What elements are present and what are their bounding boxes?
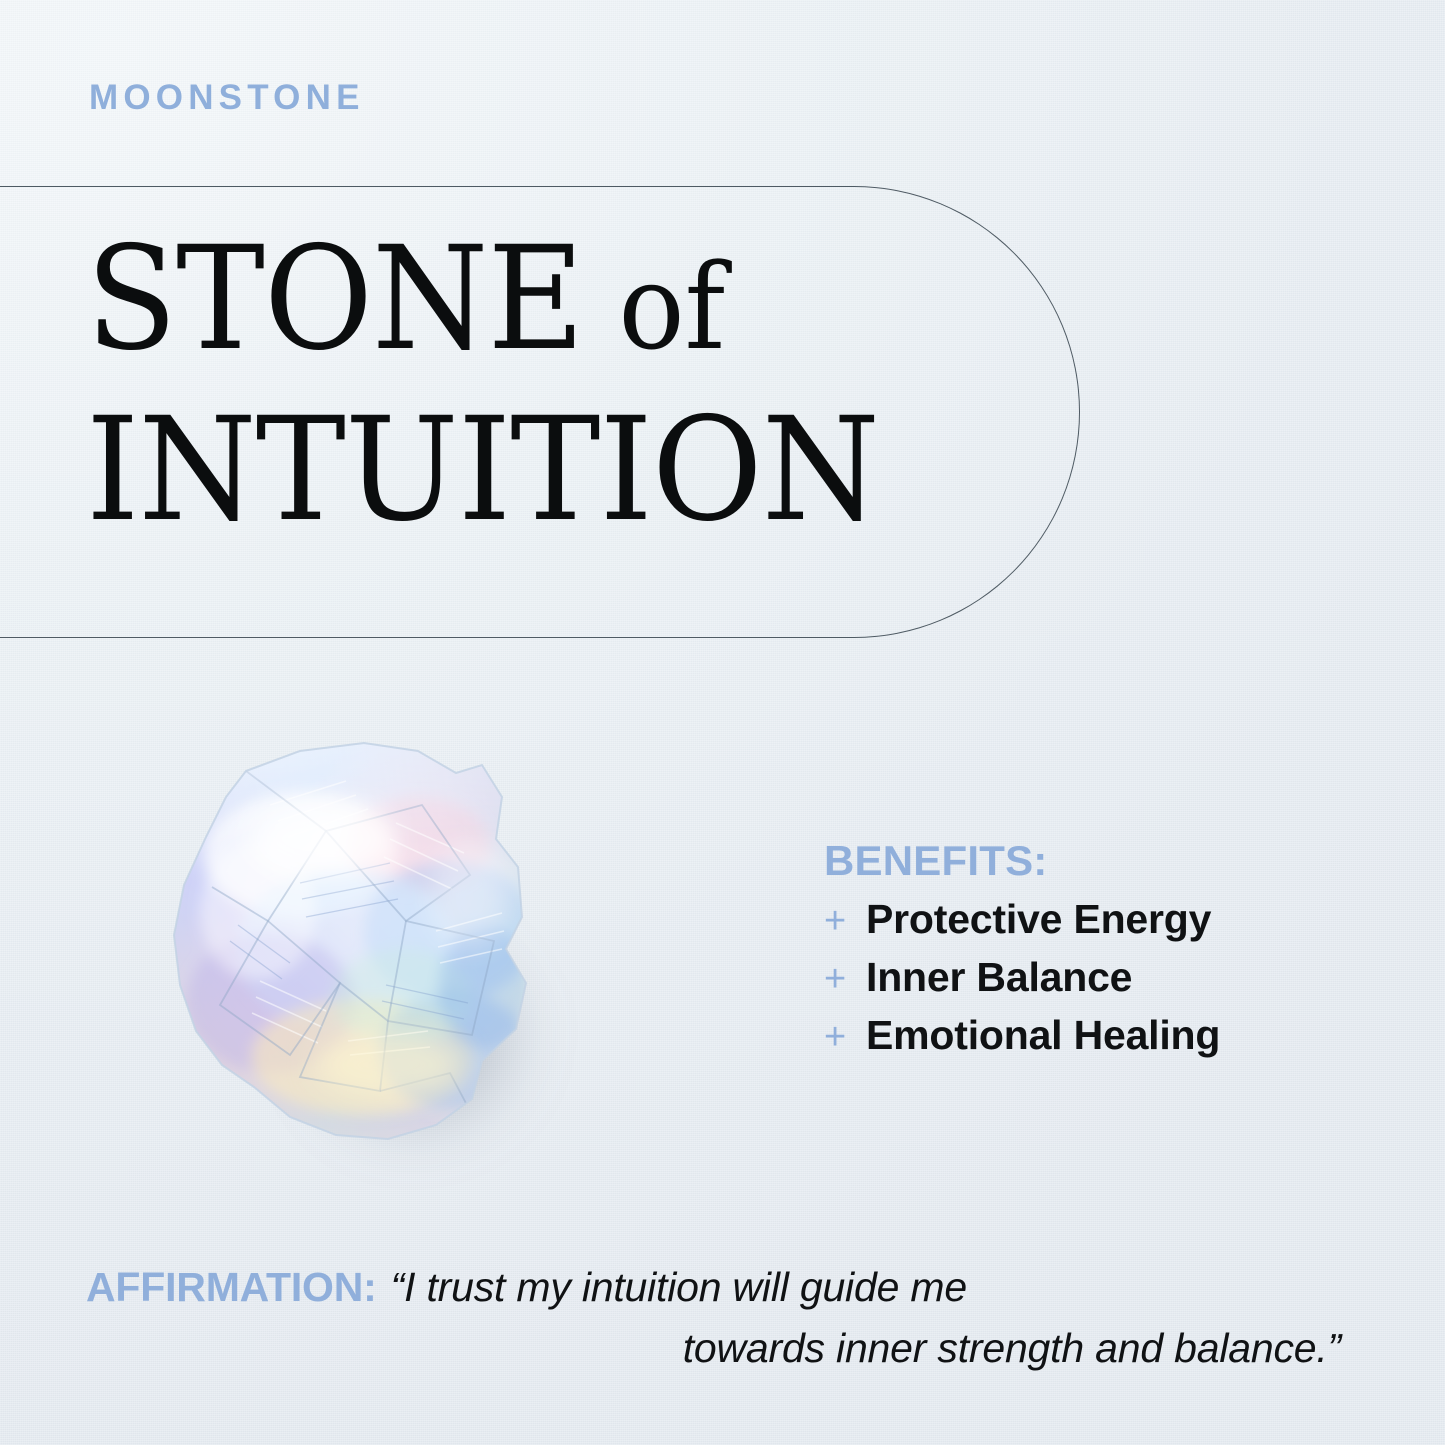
- benefit-label: Inner Balance: [866, 956, 1132, 999]
- moonstone-image: [150, 735, 570, 1165]
- plus-icon: +: [824, 902, 866, 940]
- page-title: STONE of INTUITION: [86, 232, 925, 536]
- benefit-label: Emotional Healing: [866, 1014, 1220, 1057]
- affirmation-label: AFFIRMATION:: [86, 1262, 377, 1313]
- affirmation-quote-line-2: towards inner strength and balance.”: [683, 1325, 1341, 1371]
- plus-icon: +: [824, 1018, 866, 1056]
- stone-name-eyebrow: MOONSTONE: [89, 80, 365, 115]
- benefits-heading: BENEFITS:: [824, 840, 1384, 882]
- plus-icon: +: [824, 960, 866, 998]
- affirmation-section: AFFIRMATION: “I trust my intuition will …: [86, 1262, 1366, 1375]
- benefits-section: BENEFITS: + Protective Energy + Inner Ba…: [824, 840, 1384, 1072]
- affirmation-line-2: towards inner strength and balance.”: [86, 1323, 1341, 1374]
- title-word-of: of: [584, 238, 726, 376]
- benefit-label: Protective Energy: [866, 898, 1211, 941]
- benefit-item: + Emotional Healing: [824, 1014, 1384, 1057]
- title-line-2: INTUITION: [86, 403, 879, 536]
- moonstone-info-card: MOONSTONE STONE of INTUITION: [0, 0, 1445, 1445]
- affirmation-line-1: AFFIRMATION: “I trust my intuition will …: [86, 1262, 1366, 1313]
- title-word-stone: STONE: [86, 215, 584, 382]
- title-line-1: STONE of: [86, 232, 866, 365]
- moonstone-crystal-icon: [150, 735, 570, 1165]
- affirmation-quote-line-1: “I trust my intuition will guide me: [391, 1262, 967, 1313]
- benefit-item: + Protective Energy: [824, 898, 1384, 941]
- benefit-item: + Inner Balance: [824, 956, 1384, 999]
